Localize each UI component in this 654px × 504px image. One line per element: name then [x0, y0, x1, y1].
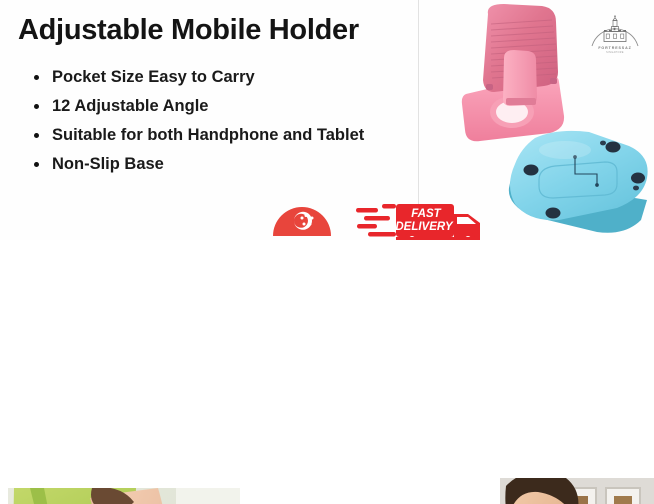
product-image-blue-holder	[505, 128, 654, 236]
list-item: 12 Adjustable Angle	[30, 92, 460, 121]
brand-logo: FORTRESSAZ SINGAPORE	[586, 6, 644, 56]
header-section: Adjustable Mobile Holder Pocket Size Eas…	[0, 0, 654, 248]
list-item: Non-Slip Base	[30, 150, 460, 179]
castle-fortress-icon	[586, 6, 644, 50]
brand-name: FORTRESSAZ	[586, 46, 644, 50]
feature-label: 12 Adjustable Angle	[52, 97, 208, 115]
feature-label: Pocket Size Easy to Carry	[52, 68, 255, 86]
bullet-dot-icon	[34, 104, 39, 109]
product-listing-banner: Adjustable Mobile Holder Pocket Size Eas…	[0, 0, 654, 504]
page-title: Adjustable Mobile Holder	[18, 14, 359, 47]
photo-man-carpet	[500, 478, 654, 504]
photo-kitchen-salad	[8, 488, 240, 504]
feature-label: Suitable for both Handphone and Tablet	[52, 126, 364, 144]
delivery-line1: FAST	[411, 208, 441, 220]
brand-tagline: SINGAPORE	[586, 51, 644, 54]
singapore-flag-icon	[272, 203, 332, 237]
list-item: Suitable for both Handphone and Tablet	[30, 121, 460, 150]
feature-list: Pocket Size Easy to Carry 12 Adjustable …	[30, 63, 460, 179]
bullet-dot-icon	[34, 162, 39, 167]
bullet-dot-icon	[34, 75, 39, 80]
lifestyle-photo-row	[0, 240, 654, 504]
feature-label: Non-Slip Base	[52, 155, 164, 173]
list-item: Pocket Size Easy to Carry	[30, 63, 460, 92]
delivery-line2: DELIVERY	[395, 221, 454, 233]
product-image-pink-holder	[446, 2, 574, 144]
bullet-dot-icon	[34, 133, 39, 138]
